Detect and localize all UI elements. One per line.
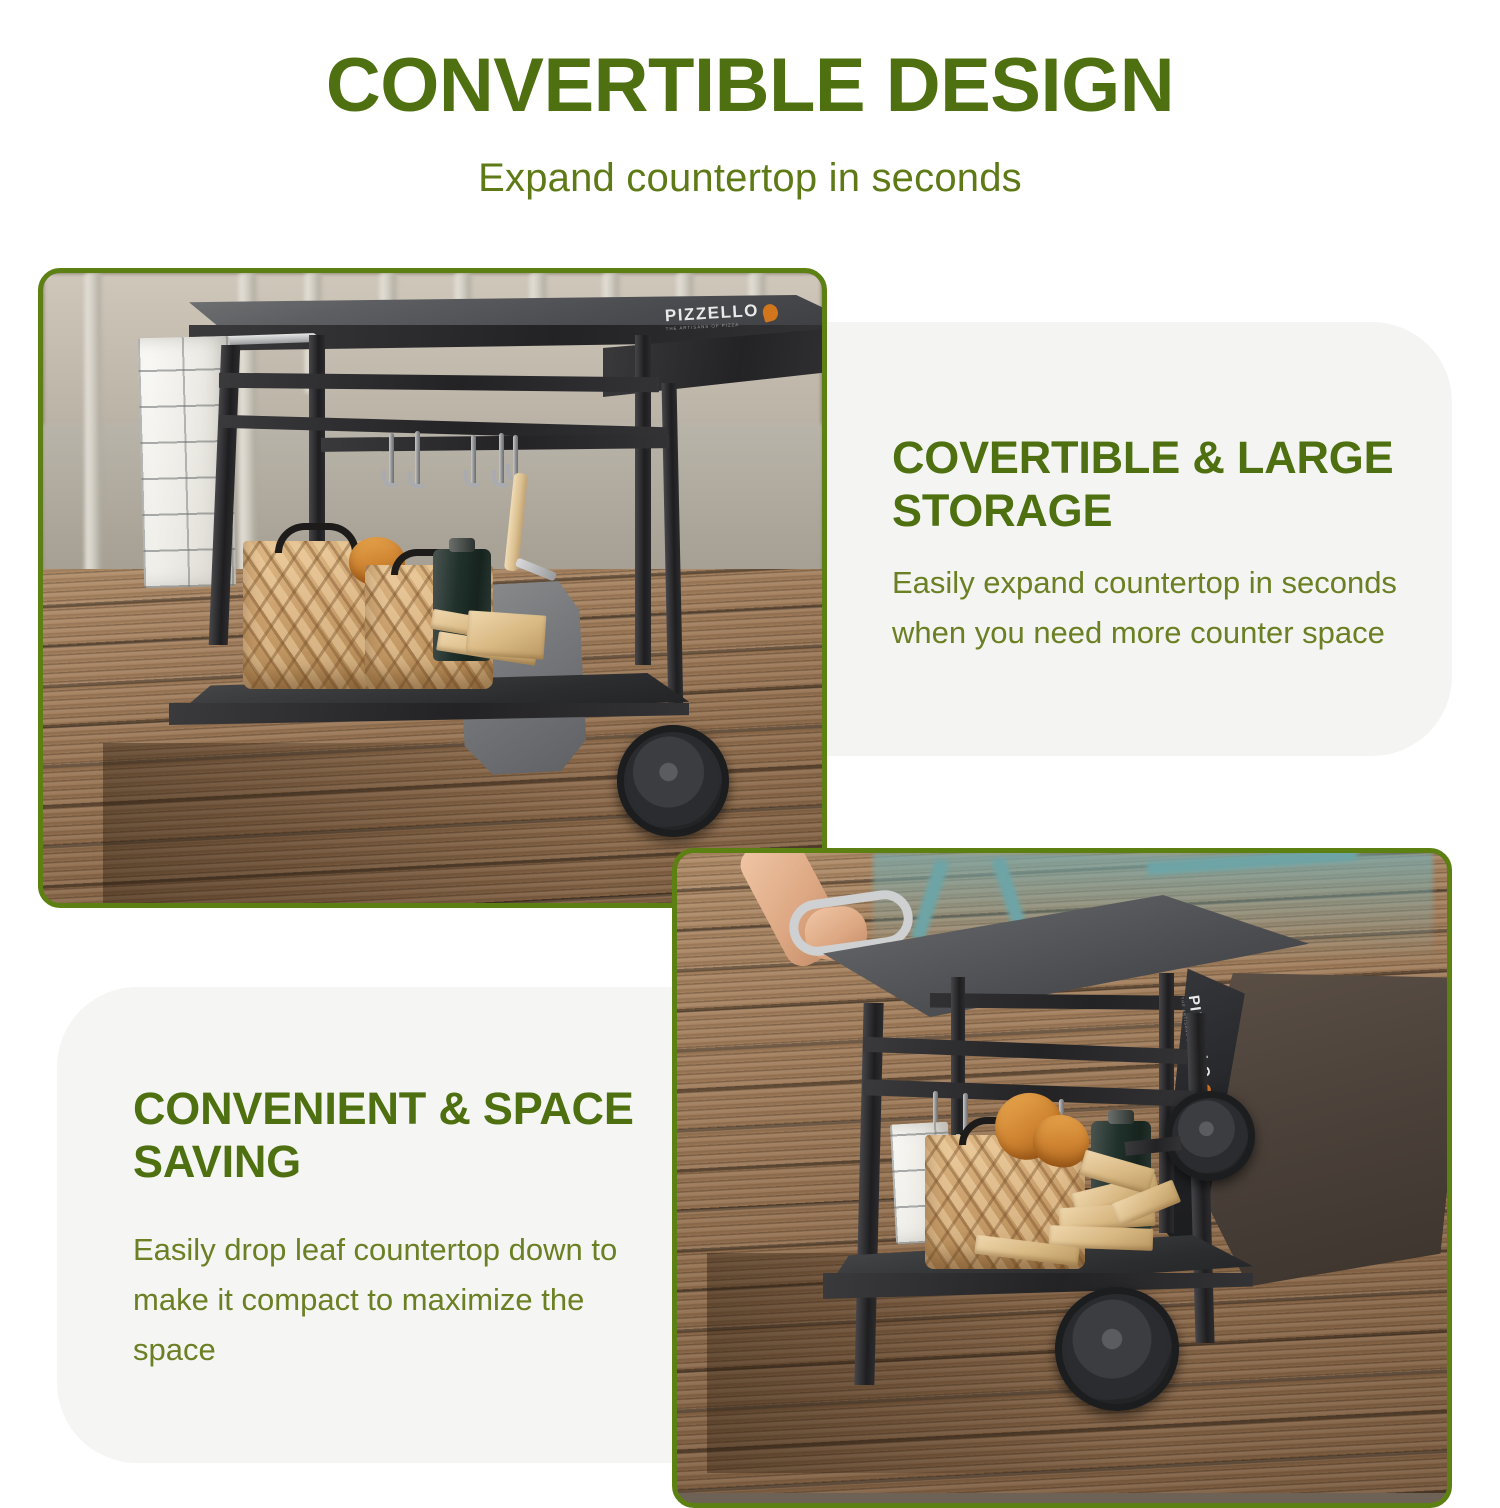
feature-card-convertible-large-storage: COVERTIBLE & LARGE STORAGE Easily expand…	[826, 322, 1452, 756]
header: CONVERTIBLE DESIGN Expand countertop in …	[0, 0, 1500, 201]
utensil-hook	[389, 433, 394, 485]
flame-icon	[761, 302, 780, 322]
wood-plank	[466, 610, 547, 659]
feature-body-storage: Easily expand countertop in seconds when…	[892, 558, 1402, 658]
photo-scene-folded: PIZZELLO THE ARTISANS OF PIZZA	[677, 853, 1447, 1503]
utensil-hook	[499, 433, 504, 485]
product-photo-cart-folded: PIZZELLO THE ARTISANS OF PIZZA	[672, 848, 1452, 1508]
cart-wheel-front	[1055, 1287, 1179, 1411]
feature-body-space: Easily drop leaf countertop down to make…	[133, 1225, 633, 1376]
feature-heading-space: CONVENIENT & SPACE SAVING	[133, 1083, 653, 1188]
feature-card-convenient-space-saving: CONVENIENT & SPACE SAVING Easily drop le…	[57, 987, 712, 1463]
railing-post	[85, 273, 101, 603]
photo-scene-expanded: PIZZELLO THE ARTISANS OF PIZZA	[43, 273, 822, 903]
utensil-hook	[415, 431, 420, 486]
feature-heading-storage: COVERTIBLE & LARGE STORAGE	[892, 432, 1402, 537]
page-subtitle: Expand countertop in seconds	[0, 124, 1500, 201]
page-title: CONVERTIBLE DESIGN	[0, 0, 1500, 124]
product-photo-cart-expanded: PIZZELLO THE ARTISANS OF PIZZA	[38, 268, 827, 908]
cart-wheel	[617, 725, 729, 837]
utensil-hook	[471, 435, 476, 485]
